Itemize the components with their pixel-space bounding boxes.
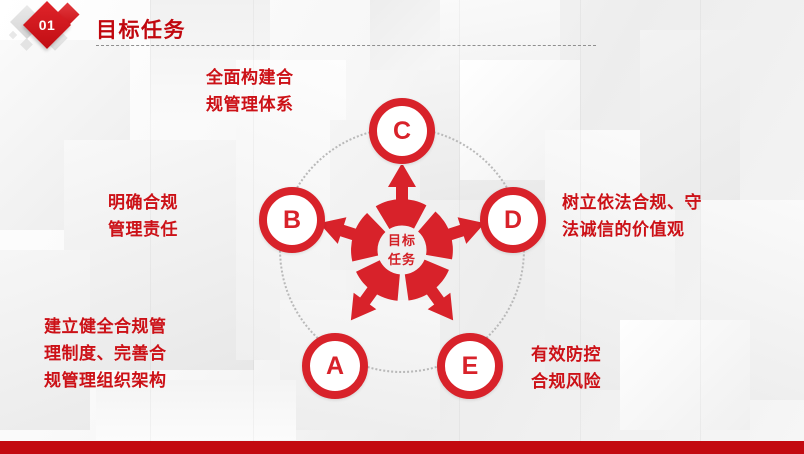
slide-canvas: 01 目标任务 全面构建合 规管理体系 明确合规 管理责任 树立依法合规、守 法…: [0, 0, 804, 454]
footer-accent-bar: [0, 441, 804, 454]
hub-label: 目标 任务: [317, 165, 487, 335]
node-c[interactable]: C: [369, 98, 435, 164]
node-d[interactable]: D: [480, 187, 546, 253]
node-b[interactable]: B: [259, 187, 325, 253]
hub-label-line2: 任务: [388, 250, 416, 269]
cycle-diagram: 目标 任务 C D E A B: [232, 80, 572, 420]
page-title: 目标任务: [96, 14, 186, 44]
decorative-diamond-dot-icon: [9, 31, 17, 39]
node-a[interactable]: A: [302, 333, 368, 399]
red-diamond-icon: 01: [23, 1, 71, 49]
node-e[interactable]: E: [437, 333, 503, 399]
section-badge: 01: [8, 2, 92, 58]
hub-graphic: 目标 任务: [317, 165, 487, 335]
caption-a: 建立健全合规管 理制度、完善合 规管理组织架构: [44, 313, 167, 394]
hub-label-line1: 目标: [388, 231, 416, 250]
section-number: 01: [30, 8, 64, 42]
caption-d: 树立依法合规、守 法诚信的价值观: [562, 189, 702, 243]
caption-b: 明确合规 管理责任: [108, 189, 178, 243]
slide-header: 01 目标任务: [0, 0, 804, 60]
header-divider: [96, 45, 596, 46]
